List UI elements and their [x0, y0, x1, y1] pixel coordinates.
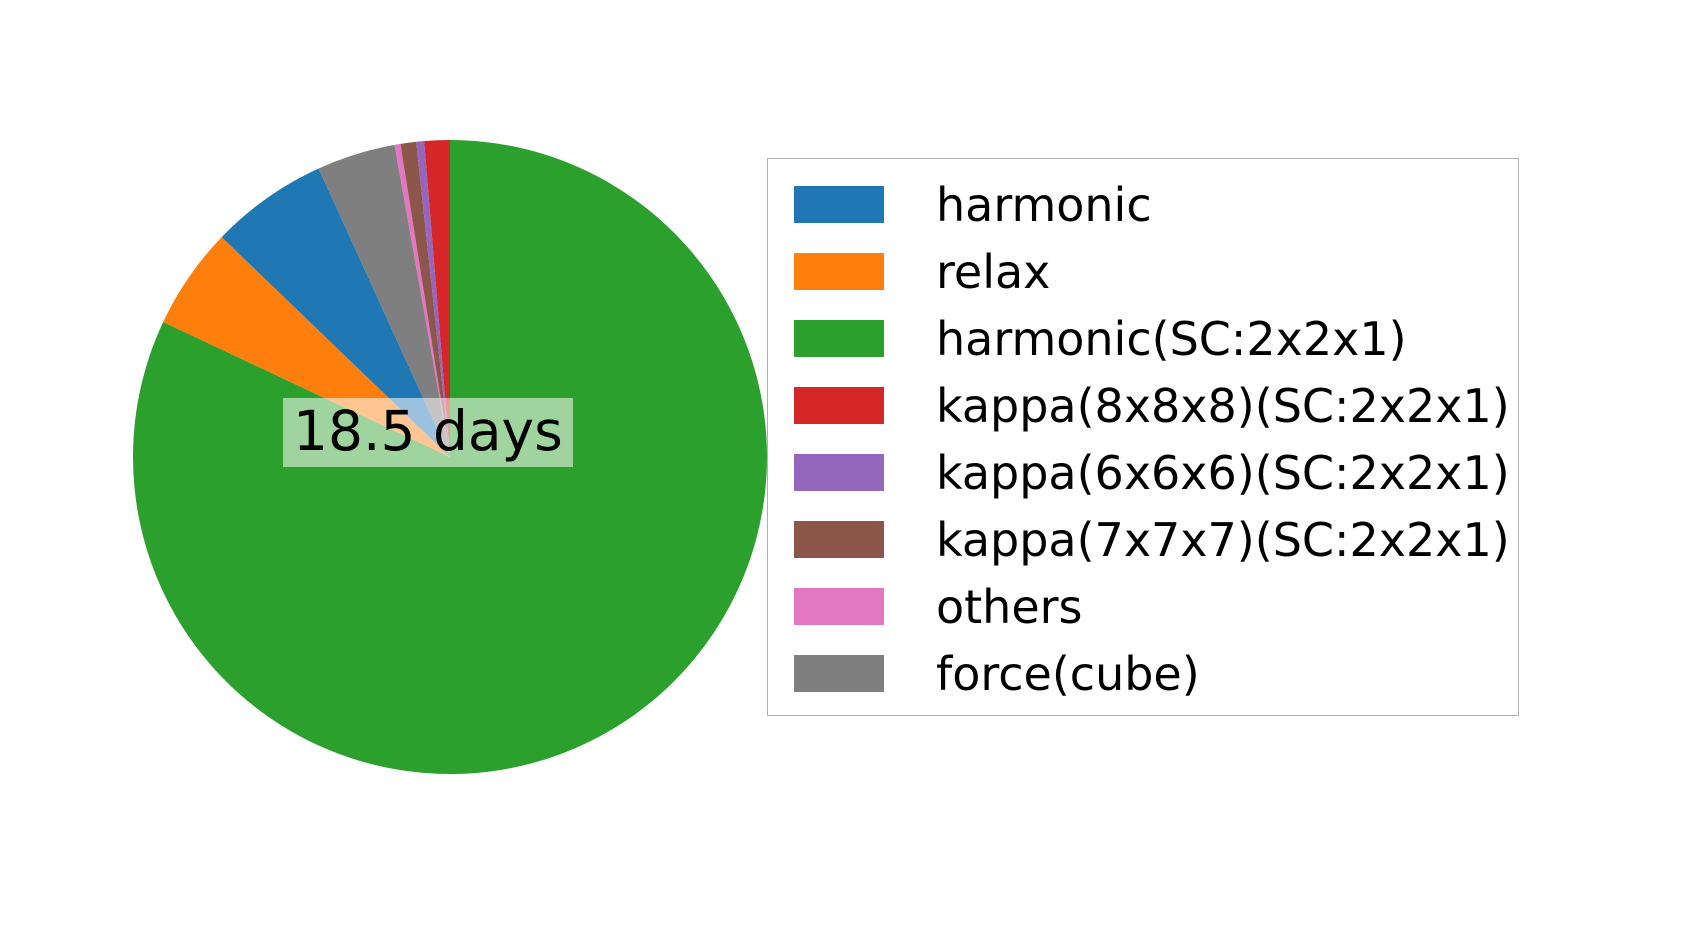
legend-color-swatch [794, 521, 884, 558]
legend-color-swatch [794, 186, 884, 223]
legend-item-label: relax [936, 249, 1050, 295]
legend-item[interactable]: harmonic [768, 171, 1518, 238]
legend-color-swatch [794, 588, 884, 625]
chart-legend: harmonicrelaxharmonic(SC:2x2x1)kappa(8x8… [767, 158, 1519, 716]
legend-item-label: kappa(8x8x8)(SC:2x2x1) [936, 383, 1510, 429]
pie-center-label: 18.5 days [283, 398, 573, 467]
legend-item-label: harmonic [936, 182, 1152, 228]
legend-item-label: force(cube) [936, 651, 1200, 697]
legend-item-label: others [936, 584, 1083, 630]
legend-item-label: harmonic(SC:2x2x1) [936, 316, 1407, 362]
pie-chart-area: 18.5 days [0, 0, 900, 951]
legend-color-swatch [794, 454, 884, 491]
legend-item-label: kappa(6x6x6)(SC:2x2x1) [936, 450, 1510, 496]
legend-item-list: harmonicrelaxharmonic(SC:2x2x1)kappa(8x8… [768, 159, 1518, 707]
pie-chart-svg [0, 0, 900, 951]
legend-item[interactable]: relax [768, 238, 1518, 305]
legend-item[interactable]: kappa(7x7x7)(SC:2x2x1) [768, 506, 1518, 573]
legend-color-swatch [794, 655, 884, 692]
chart-page: 18.5 days harmonicrelaxharmonic(SC:2x2x1… [0, 0, 1696, 951]
legend-item[interactable]: kappa(6x6x6)(SC:2x2x1) [768, 439, 1518, 506]
legend-item[interactable]: kappa(8x8x8)(SC:2x2x1) [768, 372, 1518, 439]
legend-item-label: kappa(7x7x7)(SC:2x2x1) [936, 517, 1510, 563]
legend-color-swatch [794, 387, 884, 424]
legend-color-swatch [794, 320, 884, 357]
legend-color-swatch [794, 253, 884, 290]
legend-item[interactable]: harmonic(SC:2x2x1) [768, 305, 1518, 372]
legend-item[interactable]: others [768, 573, 1518, 640]
legend-item[interactable]: force(cube) [768, 640, 1518, 707]
